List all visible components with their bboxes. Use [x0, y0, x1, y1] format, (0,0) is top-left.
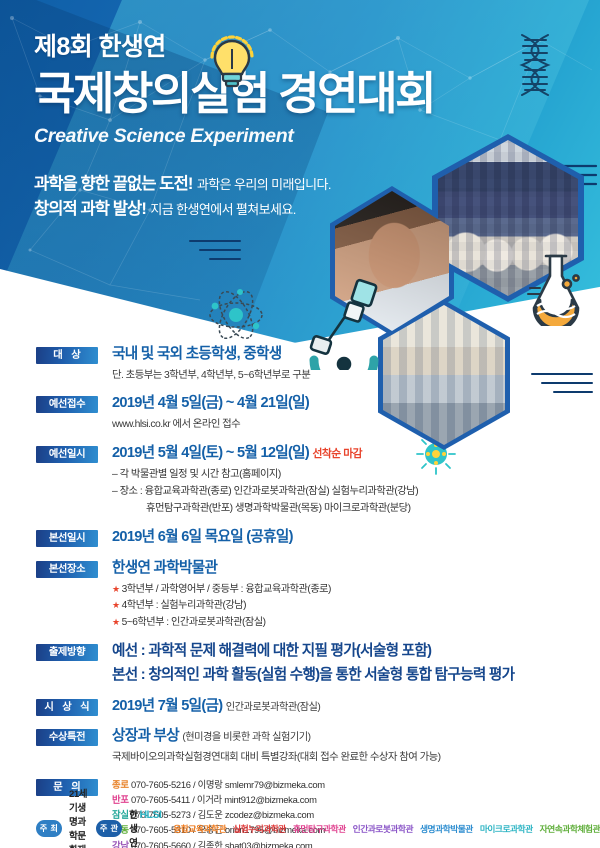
final-venue-bullet-1: ★3학년부 / 과학영어부 / 중등부 : 융합교육과학관(종로)	[112, 582, 600, 599]
prelim-schedule-note-2: – 장소 : 융합교육과학관(종로) 인간과로봇과학관(잠실) 실험누리과학관(…	[112, 484, 600, 501]
microscope-icon	[300, 278, 396, 370]
contact-item[interactable]: 종로 070-7605-5216 / 이명랑 smlemr79@bizmeka.…	[112, 777, 360, 792]
detail-row-award-ceremony: 시 상 식 2019년 7월 5일(금) 인간과로봇과학관(잠실)	[0, 697, 600, 717]
poster-lead-copy: 과학을 향한 끝없는 도전! 과학은 우리의 미래입니다. 창의적 과학 발상!…	[34, 172, 394, 224]
row-label-prelim-registration: 예선접수	[36, 396, 98, 413]
organizer-pill-label: 주 관	[96, 820, 122, 837]
award-benefits-extra: 국제바이오의과학실험경연대회 대비 특별강좌(대회 접수 완료한 수상자 참여 …	[112, 750, 600, 766]
row-label-award-ceremony: 시 상 식	[36, 699, 98, 716]
sponsor-list: 융합교육과학관 실험누리과학관 휴먼탐구과학관 인간과로봇과학관 생명과학박물관…	[173, 822, 600, 835]
sponsor-item: 융합교육과학관	[173, 822, 226, 835]
exam-direction-prelim: 예선 : 과학적 문제 해결력에 대한 지필 평가(서술형 포함)	[112, 642, 600, 662]
final-venue-main: 한생연 과학박물관	[112, 559, 600, 579]
sponsor-item: 생명과학박물관	[420, 822, 473, 835]
detail-row-final-date: 본선일시 2019년 6월 6일 목요일 (공휴일)	[0, 528, 600, 548]
first-come-deadline-tag: 선착순 마감	[312, 448, 362, 460]
hlsi-logo-text: HLSI	[139, 809, 161, 821]
row-label-prelim-schedule: 예선일시	[36, 446, 98, 463]
final-venue-bullet-3: ★5~6학년부 : 인간과로봇과학관(잠실)	[112, 615, 600, 632]
dna-helix-icon	[510, 32, 560, 98]
row-label-target: 대 상	[36, 347, 98, 364]
prelim-schedule-note-1: – 각 박물관별 일정 및 시간 참고(홈페이지)	[112, 467, 600, 484]
star-bullet-icon: ★	[112, 600, 120, 610]
lead-line2-light: 지금 한생연에서 펼쳐보세요.	[150, 202, 295, 217]
award-ceremony-venue: 인간과로봇과학관(잠실)	[226, 702, 321, 713]
sponsor-item: 자연속과학체험관	[540, 822, 600, 835]
host-pill-label: 주 최	[36, 820, 62, 837]
speed-lines-decoration-2	[530, 368, 596, 402]
award-ceremony-date: 2019년 7월 5일(금)	[112, 698, 222, 714]
host-organization-name: 21세기생명과학문화재단	[69, 786, 89, 848]
detail-row-final-venue: 본선장소 한생연 과학박물관 ★3학년부 / 과학영어부 / 중등부 : 융합교…	[0, 559, 600, 631]
flask-icon	[524, 252, 588, 326]
poster-footer: 주 최 21세기생명과학문화재단 주 관 한생연 HLSI 융합교육과학관 실험…	[0, 808, 600, 848]
atom-icon	[206, 287, 266, 343]
detail-row-prelim-schedule: 예선일시 2019년 5월 4일(토) ~ 5월 12일(일) 선착순 마감 –…	[0, 444, 600, 518]
row-label-final-date: 본선일시	[36, 530, 98, 547]
final-date-text: 2019년 6월 6일 목요일 (공휴일)	[112, 528, 600, 548]
sponsor-item: 휴먼탐구과학관	[293, 822, 346, 835]
details-section: 대 상 국내 및 국외 초등학생, 중학생 단. 초등부는 3학년부, 4학년부…	[0, 345, 600, 848]
contact-name: 이거라	[197, 794, 222, 805]
contact-name: 이명랑	[198, 779, 223, 790]
detail-row-prelim-registration: 예선접수 2019년 4월 5일(금) ~ 4월 21일(일) www.hlsi…	[0, 394, 600, 432]
lightbulb-icon	[200, 27, 264, 99]
prelim-schedule-note-3: 휴먼탐구과학관(반포) 생명과학박물관(목동) 마이크로과학관(분당)	[112, 501, 600, 518]
contact-location: 반포	[112, 794, 129, 805]
contact-email[interactable]: smlemr79@bizmeka.com	[225, 779, 325, 790]
speed-lines-decoration-3	[186, 236, 244, 270]
sponsor-item: 인간과로봇과학관	[353, 822, 413, 835]
contact-location: 종로	[112, 779, 129, 790]
contact-email[interactable]: mint912@bizmeka.com	[224, 794, 316, 805]
lead-line1-light: 과학은 우리의 미래입니다.	[197, 177, 331, 192]
poster-root: 제8회 한생연 국제창의실험 경연대회 Creative Science Exp…	[0, 0, 600, 848]
award-ceremony-line: 2019년 7월 5일(금) 인간과로봇과학관(잠실)	[112, 697, 600, 717]
target-sub-text: 단. 초등부는 3학년부, 4학년부, 5~6학년부로 구분	[112, 368, 600, 384]
prelim-schedule-date-text: 2019년 5월 4일(토) ~ 5월 12일(일)	[112, 445, 309, 461]
organizer-korean-name: 한생연	[129, 807, 137, 848]
prelim-registration-url-note[interactable]: www.hlsi.co.kr 에서 온라인 접수	[112, 417, 600, 433]
lead-line1-strong: 과학을 향한 끝없는 도전!	[34, 175, 192, 193]
organizer-logo-block: 한생연 HLSI	[129, 807, 161, 848]
star-bullet-icon: ★	[112, 617, 120, 627]
contact-phone: 070-7605-5411	[131, 794, 190, 805]
row-label-final-venue: 본선장소	[36, 561, 98, 578]
prelim-schedule-dates: 2019년 5월 4일(토) ~ 5월 12일(일) 선착순 마감	[112, 444, 600, 464]
sponsor-item: 마이크로과학관	[480, 822, 533, 835]
final-venue-bullet-2: ★4학년부 : 실험누리과학관(강남)	[112, 598, 600, 615]
exam-direction-final: 본선 : 창의적인 과학 활동(실험 수행)을 통한 서술형 통합 탐구능력 평…	[112, 666, 600, 686]
star-bullet-icon: ★	[112, 584, 120, 594]
lead-line2-strong: 창의적 과학 발상!	[34, 200, 146, 218]
award-benefits-main: 상장과 부상	[112, 728, 179, 744]
award-benefits-note: (현미경을 비롯한 과학 실험기기)	[182, 732, 310, 743]
poster-subtitle-english: Creative Science Experiment	[34, 125, 394, 148]
row-label-award-benefits: 수상특전	[36, 729, 98, 746]
prelim-registration-period: 2019년 4월 5일(금) ~ 4월 21일(일)	[112, 394, 600, 414]
row-label-exam-direction: 출제방향	[36, 644, 98, 661]
contact-item[interactable]: 반포 070-7605-5411 / 이거라 mint912@bizmeka.c…	[112, 792, 360, 807]
detail-row-award-benefits: 수상특전 상장과 부상 (현미경을 비롯한 과학 실험기기) 국제바이오의과학실…	[0, 727, 600, 765]
contact-phone: 070-7605-5216	[131, 779, 191, 790]
award-benefits-line: 상장과 부상 (현미경을 비롯한 과학 실험기기)	[112, 727, 600, 747]
detail-row-exam-direction: 출제방향 예선 : 과학적 문제 해결력에 대한 지필 평가(서술형 포함) 본…	[0, 642, 600, 685]
sponsor-item: 실험누리과학관	[233, 822, 286, 835]
